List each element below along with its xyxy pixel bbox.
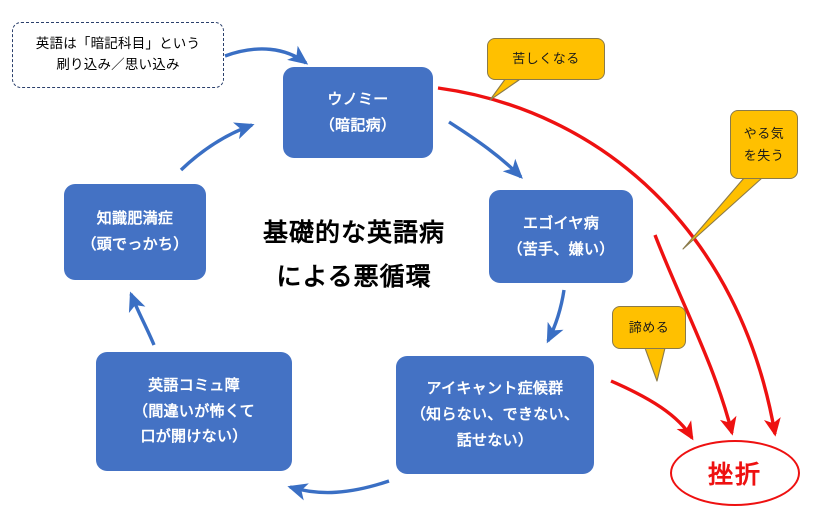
node-unomi[interactable]: ウノミー （暗記病） bbox=[283, 67, 433, 158]
node-egoiya-line-2: （苦手、嫌い） bbox=[507, 237, 614, 263]
edge-egoiya-to-aicant bbox=[548, 290, 564, 341]
node-chishiki[interactable]: 知識肥満症 （頭でっかち） bbox=[64, 184, 206, 280]
node-chishiki-line-1: 知識肥満症 bbox=[97, 206, 174, 232]
callout-yaruki-line-1: やる気 bbox=[744, 123, 785, 144]
node-unomi-line-2: （暗記病） bbox=[320, 113, 397, 139]
outcome-zasetsu: 挫折 bbox=[670, 440, 800, 506]
diagram-title: 基礎的な英語病 による悪循環 bbox=[238, 212, 470, 299]
edge-chishiki-to-unomi bbox=[181, 125, 252, 170]
callout-tail-yaruki bbox=[683, 178, 762, 249]
premise-line-1: 英語は「暗記科目」という bbox=[36, 34, 200, 55]
callout-kurushiku: 苦しくなる bbox=[487, 38, 605, 80]
node-comyu-line-2: （間違いが怖くて bbox=[133, 399, 255, 425]
premise-box: 英語は「暗記科目」という 刷り込み／思い込み bbox=[12, 22, 224, 88]
callout-tail-akirameru bbox=[645, 348, 665, 381]
node-chishiki-line-2: （頭でっかち） bbox=[81, 232, 188, 258]
diagram-title-line-2: による悪循環 bbox=[238, 256, 470, 300]
node-egoiya[interactable]: エゴイヤ病 （苦手、嫌い） bbox=[489, 190, 633, 283]
outcome-label: 挫折 bbox=[708, 455, 762, 491]
edge-unomi-to-egoiya bbox=[449, 122, 521, 177]
node-aicant-line-3: 話せない） bbox=[457, 428, 534, 454]
node-aicant-line-2: （知らない、できない、 bbox=[411, 402, 579, 428]
callout-yaruki-line-2: を失う bbox=[744, 145, 785, 166]
callout-yaruki: やる気 を失う bbox=[730, 110, 798, 179]
node-unomi-line-1: ウノミー bbox=[327, 87, 388, 113]
callout-kurushiku-line-1: 苦しくなる bbox=[512, 48, 580, 69]
edge-aicant-to-comyu bbox=[290, 481, 389, 493]
node-aicant[interactable]: アイキャント症候群 （知らない、できない、 話せない） bbox=[396, 356, 594, 474]
node-comyu[interactable]: 英語コミュ障 （間違いが怖くて 口が開けない） bbox=[96, 352, 292, 471]
node-aicant-line-1: アイキャント症候群 bbox=[427, 376, 564, 402]
callout-akirameru: 諦める bbox=[612, 306, 686, 349]
node-comyu-line-3: 口が開けない） bbox=[140, 424, 247, 450]
edge-comyu-to-chishiki bbox=[131, 294, 154, 345]
callout-akirameru-line-1: 諦める bbox=[629, 317, 670, 338]
node-comyu-line-1: 英語コミュ障 bbox=[148, 373, 240, 399]
node-egoiya-line-1: エゴイヤ病 bbox=[523, 211, 599, 237]
callout-tail-kurushiku bbox=[490, 78, 519, 100]
diagram-canvas: 英語は「暗記科目」という 刷り込み／思い込み ウノミー （暗記病） エゴイヤ病 … bbox=[0, 0, 823, 525]
diagram-title-line-1: 基礎的な英語病 bbox=[238, 212, 470, 256]
edge-premise-to-unomi bbox=[225, 49, 306, 63]
premise-line-2: 刷り込み／思い込み bbox=[56, 55, 179, 76]
edge-aicant-to-outcome bbox=[611, 381, 692, 438]
